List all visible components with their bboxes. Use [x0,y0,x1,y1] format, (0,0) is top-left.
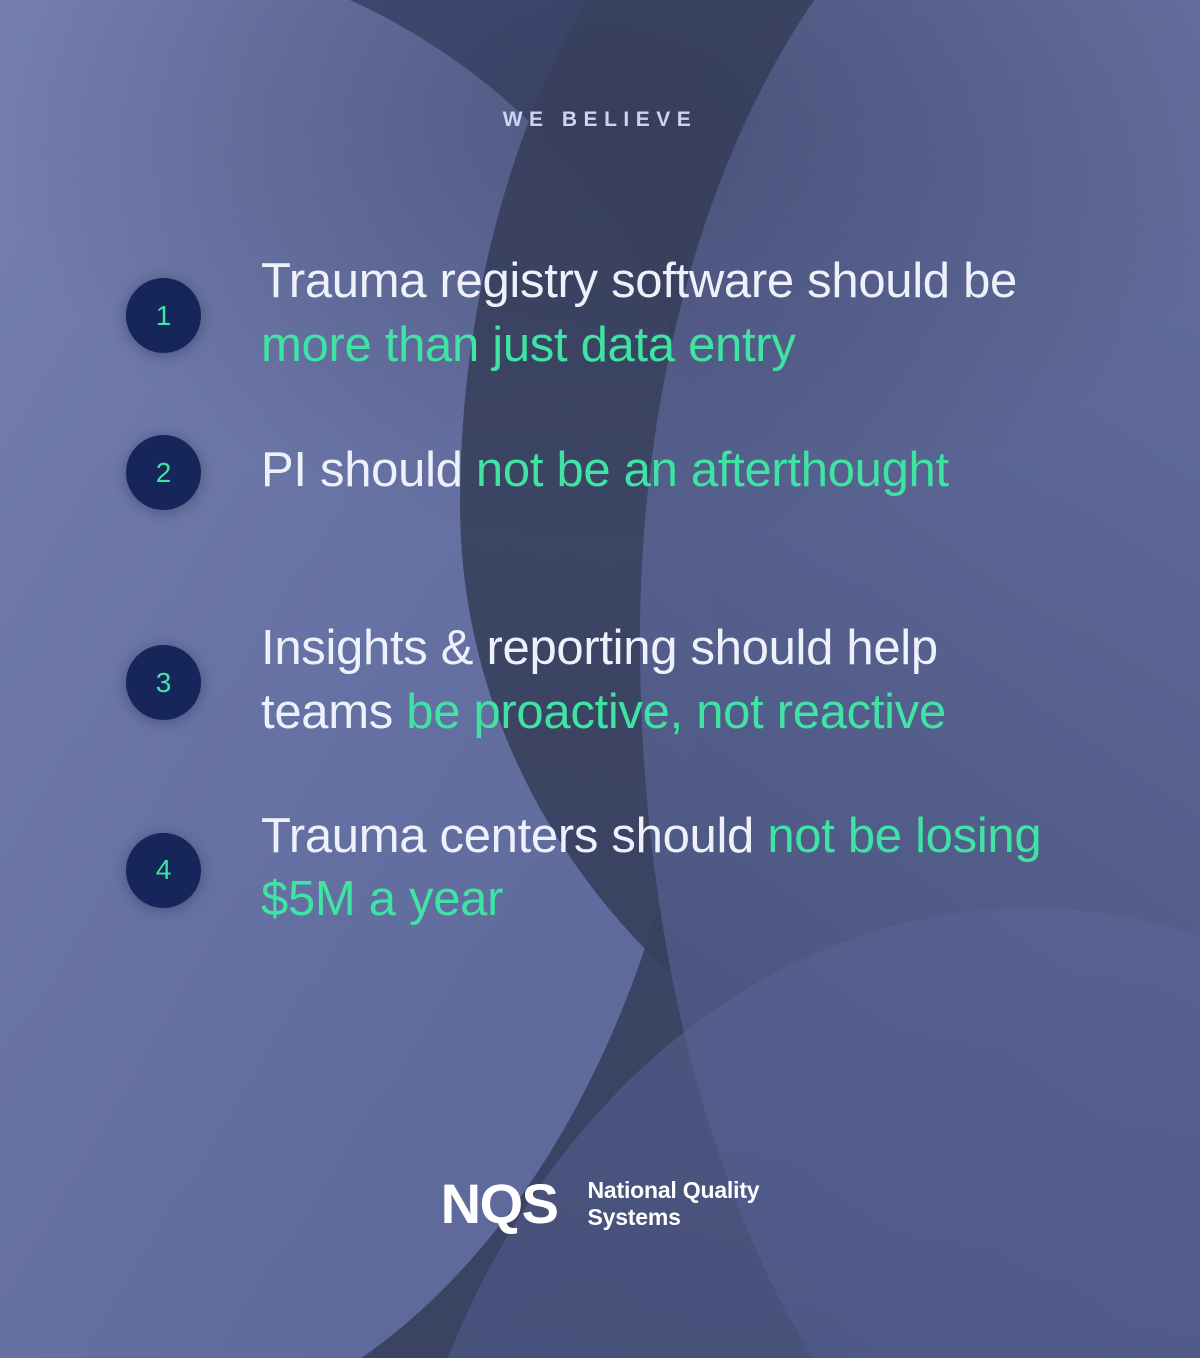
logo-company-line-2: Systems [587,1204,759,1231]
logo-wordmark: NQS [441,1176,558,1232]
belief-text-2: PI should not be an afterthought [261,439,949,503]
belief-item-4: 4 Trauma centers should not be losing $5… [0,805,1200,932]
belief-list: 1 Trauma registry software should be mor… [0,250,1200,932]
belief-number-badge-3: 3 [126,645,201,720]
poster-content: WE BELIEVE 1 Trauma registry software sh… [0,0,1200,1358]
poster-canvas: WE BELIEVE 1 Trauma registry software sh… [0,0,1200,1358]
belief-text-4: Trauma centers should not be losing $5M … [261,805,1061,932]
belief-text-1: Trauma registry software should be more … [261,250,1061,377]
belief-lead-2: PI should [261,443,476,497]
belief-lead-4: Trauma centers should [261,809,767,863]
belief-item-1: 1 Trauma registry software should be mor… [0,250,1200,377]
belief-highlight-2: not be an afterthought [476,443,949,497]
eyebrow-heading: WE BELIEVE [0,108,1200,132]
belief-highlight-3: be proactive, not reactive [406,685,946,739]
belief-number-badge-1: 1 [126,278,201,353]
belief-item-3: 3 Insights & reporting should help teams… [0,617,1200,744]
brand-logo: NQS National Quality Systems [0,1176,1200,1232]
belief-number-badge-2: 2 [126,435,201,510]
belief-item-2: 2 PI should not be an afterthought [0,439,1200,559]
belief-text-3: Insights & reporting should help teams b… [261,617,1061,744]
logo-company-name: National Quality Systems [587,1177,759,1230]
belief-lead-1: Trauma registry software should be [261,254,1017,308]
belief-number-badge-4: 4 [126,833,201,908]
logo-company-line-1: National Quality [587,1177,759,1204]
belief-highlight-1: more than just data entry [261,318,796,372]
